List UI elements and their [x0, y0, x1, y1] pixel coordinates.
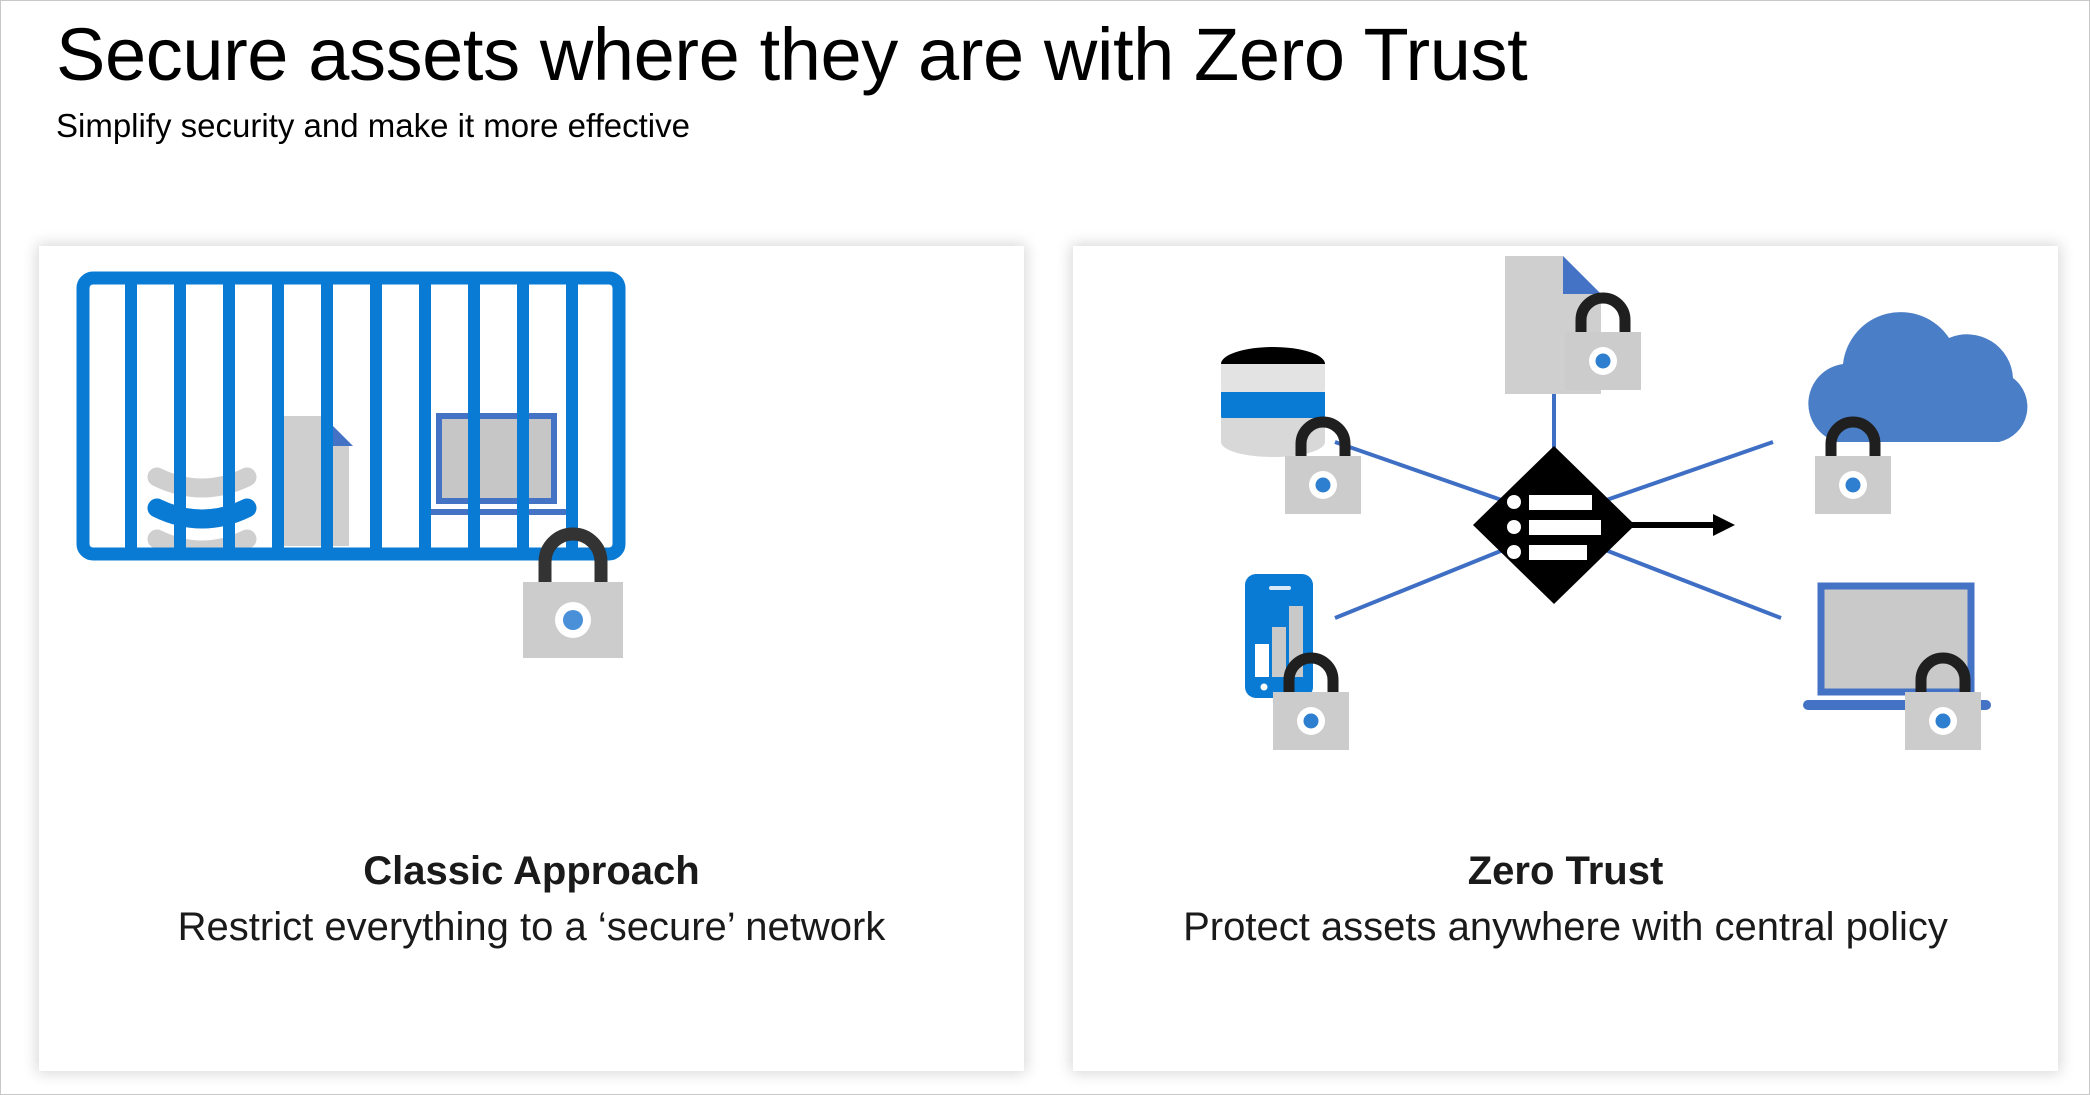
zero-trust-hub-diagram	[1073, 246, 2058, 856]
card-caption: Classic Approach Restrict everything to …	[39, 846, 1024, 952]
card-title: Zero Trust	[1073, 846, 2058, 896]
page-title: Secure assets where they are with Zero T…	[56, 15, 1956, 95]
database-icon	[1221, 347, 1325, 457]
cage-diagram	[39, 246, 1024, 856]
card-title: Classic Approach	[39, 846, 1024, 896]
laptop-icon	[425, 416, 568, 515]
slide-header: Secure assets where they are with Zero T…	[56, 15, 1956, 145]
mobile-icon	[1245, 574, 1313, 698]
card-caption: Zero Trust Protect assets anywhere with …	[1073, 846, 2058, 952]
page-subtitle: Simplify security and make it more effec…	[56, 107, 1956, 145]
card-zero-trust[interactable]: Zero Trust Protect assets anywhere with …	[1073, 246, 2058, 1071]
card-classic-approach[interactable]: Classic Approach Restrict everything to …	[39, 246, 1024, 1071]
slide-canvas: Secure assets where they are with Zero T…	[0, 0, 2090, 1095]
card-subtitle: Restrict everything to a ‘secure’ networ…	[39, 902, 1024, 952]
card-subtitle: Protect assets anywhere with central pol…	[1073, 902, 2058, 952]
